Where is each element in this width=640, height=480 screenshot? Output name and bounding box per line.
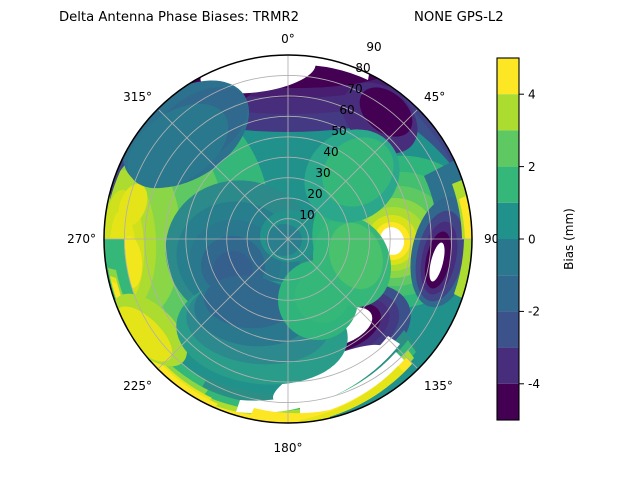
colorbar-tick-neg4: -4 bbox=[528, 377, 540, 391]
azimuth-tick-45: 45° bbox=[424, 90, 445, 104]
azimuth-tick-315: 315° bbox=[123, 90, 152, 104]
radial-tick-70: 70 bbox=[347, 82, 362, 96]
radial-tick-60: 60 bbox=[339, 103, 354, 117]
colorbar-tick-0: 0 bbox=[528, 232, 536, 246]
radial-tick-30: 30 bbox=[315, 166, 330, 180]
azimuth-tick-180: 180° bbox=[274, 441, 303, 455]
polar-contour-figure: Delta Antenna Phase Biases: TRMR2 NONE G… bbox=[0, 0, 640, 480]
colorbar-axis-label: Bias (mm) bbox=[562, 208, 576, 270]
radial-tick-10: 10 bbox=[299, 208, 314, 222]
radial-tick-80: 80 bbox=[355, 61, 370, 75]
colorbar-tick-neg2: -2 bbox=[528, 305, 540, 319]
colorbar-tick-4: 4 bbox=[528, 88, 536, 102]
radial-tick-20: 20 bbox=[307, 187, 322, 201]
page-title-suffix: NONE GPS-L2 bbox=[414, 10, 504, 25]
azimuth-tick-270: 270° bbox=[67, 232, 96, 246]
colorbar-tick-2: 2 bbox=[528, 160, 536, 174]
azimuth-tick-135: 135° bbox=[424, 379, 453, 393]
radial-tick-40: 40 bbox=[323, 145, 338, 159]
azimuth-tick-0: 0° bbox=[281, 32, 295, 46]
colorbar-gradient bbox=[497, 58, 519, 420]
radial-tick-50: 50 bbox=[331, 124, 346, 138]
azimuth-tick-225: 225° bbox=[123, 379, 152, 393]
polar-grid bbox=[104, 55, 472, 423]
page-title: Delta Antenna Phase Biases: TRMR2 bbox=[59, 10, 299, 25]
radial-tick-90: 90 bbox=[366, 40, 381, 54]
